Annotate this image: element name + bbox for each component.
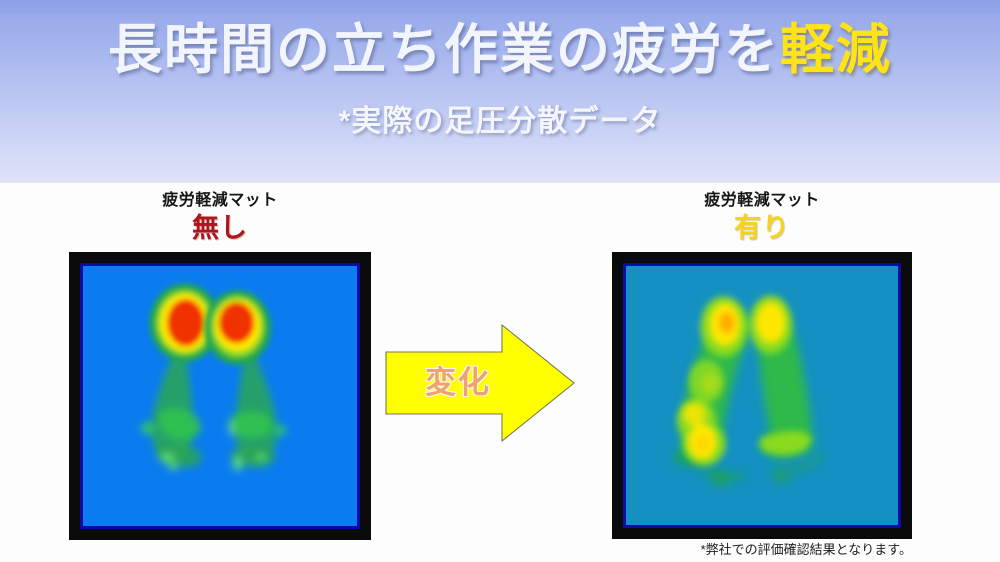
slide-canvas: 長時間の立ち作業の疲労を軽減 *実際の足圧分散データ 疲労軽減マット 無し 疲労… bbox=[0, 0, 1000, 562]
heatmap-frame-no-mat bbox=[69, 252, 371, 540]
pressure-map-no-mat bbox=[83, 266, 357, 526]
caption-right-main: 疲労軽減マット bbox=[612, 190, 912, 212]
caption-right-sub: 有り bbox=[612, 212, 912, 244]
heatmap-frame-with-mat bbox=[612, 252, 912, 539]
heatmap-plate-no-mat bbox=[80, 263, 360, 529]
pressure-map-with-mat bbox=[626, 266, 898, 525]
heatmap-plate-with-mat bbox=[623, 263, 901, 528]
hotspot-right-heel-no-mat bbox=[204, 290, 271, 364]
page-title-prefix: 長時間の立ち作業の疲労を bbox=[108, 20, 780, 80]
page-title: 長時間の立ち作業の疲労を軽減 bbox=[0, 14, 1000, 86]
caption-left: 疲労軽減マット 無し bbox=[69, 190, 371, 244]
banner-top-strip bbox=[0, 0, 1000, 14]
footnote: *弊社での評価確認結果となります。 bbox=[612, 540, 912, 560]
arrow-right-icon bbox=[384, 322, 576, 444]
caption-right: 疲労軽減マット 有り bbox=[612, 190, 912, 244]
header-banner: 長時間の立ち作業の疲労を軽減 *実際の足圧分散データ bbox=[0, 0, 1000, 183]
page-subtitle: *実際の足圧分散データ bbox=[0, 101, 1000, 143]
caption-left-sub: 無し bbox=[69, 212, 371, 244]
pressure-trails-no-mat bbox=[141, 346, 287, 471]
caption-left-main: 疲労軽減マット bbox=[69, 190, 371, 212]
transition-arrow: 変化 bbox=[384, 322, 576, 444]
page-title-highlight: 軽減 bbox=[780, 20, 892, 80]
